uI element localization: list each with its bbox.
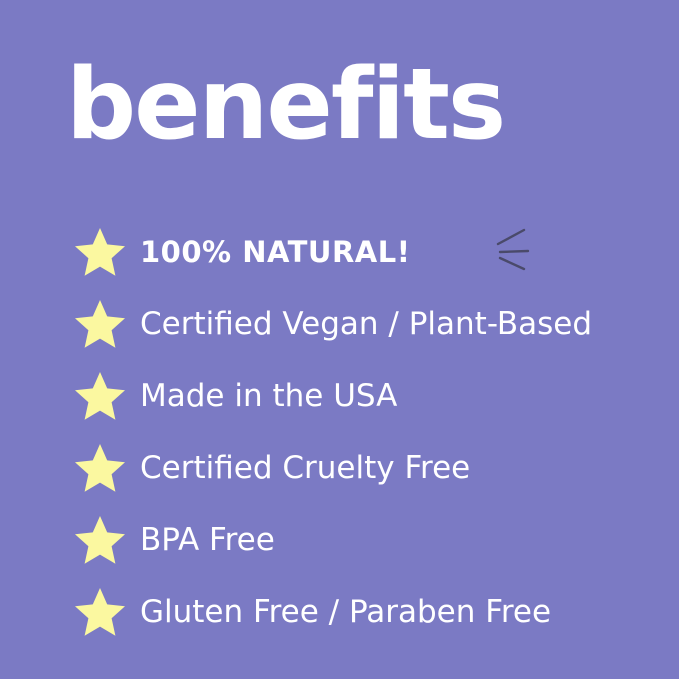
page-title: benefits xyxy=(66,56,504,154)
list-item: 100% NATURAL! xyxy=(60,216,660,288)
sparkle-icon xyxy=(492,222,552,278)
star-icon xyxy=(60,370,140,422)
benefits-list: 100% NATURAL! Certified Vegan / Plant-Ba… xyxy=(60,216,660,648)
list-item: Certified Cruelty Free xyxy=(60,432,660,504)
list-item: Certified Vegan / Plant-Based xyxy=(60,288,660,360)
star-icon xyxy=(60,298,140,350)
list-item-label: 100% NATURAL! xyxy=(140,235,410,269)
list-item: Gluten Free / Paraben Free xyxy=(60,576,660,648)
list-item-label: Certified Vegan / Plant-Based xyxy=(140,306,592,342)
star-icon xyxy=(60,514,140,566)
list-item-label: Certified Cruelty Free xyxy=(140,450,470,486)
benefits-poster: benefits 100% NATURAL! xyxy=(0,0,679,679)
list-item-label: Made in the USA xyxy=(140,378,397,414)
list-item-label: Gluten Free / Paraben Free xyxy=(140,594,551,630)
list-item: BPA Free xyxy=(60,504,660,576)
star-icon xyxy=(60,442,140,494)
star-icon xyxy=(60,226,140,278)
list-item-label: BPA Free xyxy=(140,522,275,558)
list-item: Made in the USA xyxy=(60,360,660,432)
star-icon xyxy=(60,586,140,638)
